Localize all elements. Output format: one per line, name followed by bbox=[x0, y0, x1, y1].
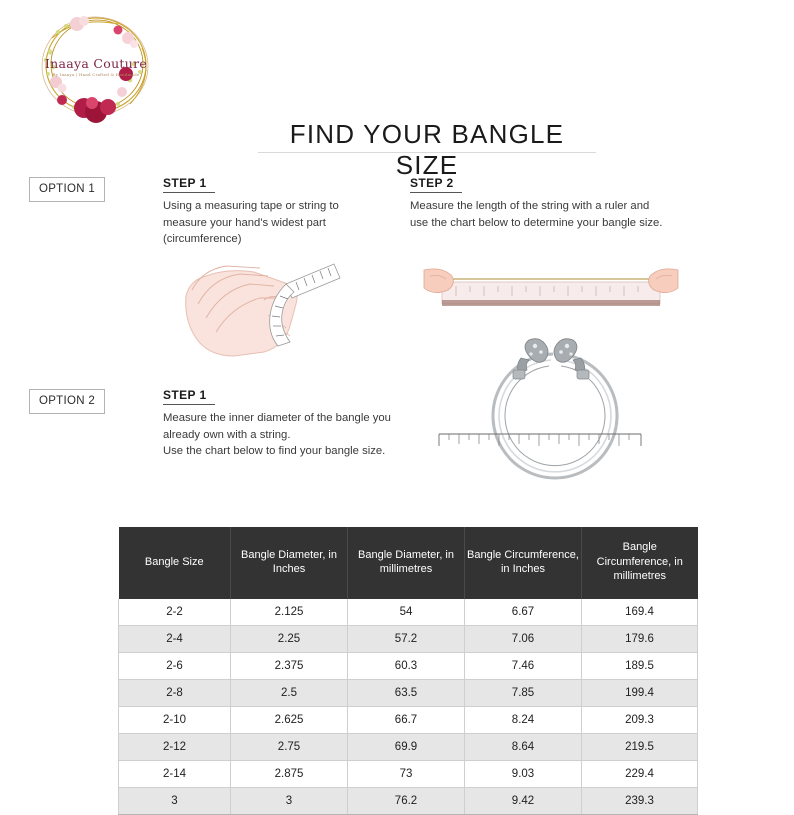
table-cell: 229.4 bbox=[582, 761, 698, 788]
table-cell: 199.4 bbox=[582, 680, 698, 707]
table-cell: 54 bbox=[348, 599, 465, 626]
table-cell: 9.03 bbox=[465, 761, 582, 788]
bangle-size-table: Bangle Size Bangle Diameter, in Inches B… bbox=[118, 527, 698, 815]
table-cell: 69.9 bbox=[348, 734, 465, 761]
table-cell: 2.625 bbox=[231, 707, 348, 734]
table-cell: 63.5 bbox=[348, 680, 465, 707]
hand-with-measuring-tape-icon bbox=[168, 250, 368, 362]
table-cell: 2-12 bbox=[119, 734, 231, 761]
table-cell: 2.5 bbox=[231, 680, 348, 707]
table-row: 2-82.563.57.85199.4 bbox=[119, 680, 698, 707]
table-cell: 209.3 bbox=[582, 707, 698, 734]
option1-step1-heading: STEP 1 bbox=[163, 176, 215, 193]
table-row: 2-62.37560.37.46189.5 bbox=[119, 653, 698, 680]
option-2-badge: OPTION 2 bbox=[29, 389, 105, 414]
table-cell: 2-4 bbox=[119, 626, 231, 653]
elephant-head-terminal-right bbox=[554, 339, 589, 379]
table-cell: 8.64 bbox=[465, 734, 582, 761]
table-row: 2-102.62566.78.24209.3 bbox=[119, 707, 698, 734]
table-header-row: Bangle Size Bangle Diameter, in Inches B… bbox=[119, 527, 698, 599]
option1-step2-heading: STEP 2 bbox=[410, 176, 462, 193]
brand-logo: Inaaya Couture By Inaaya | Hand Crafted … bbox=[22, 8, 170, 126]
table-row: 2-122.7569.98.64219.5 bbox=[119, 734, 698, 761]
title-divider bbox=[258, 152, 596, 153]
column-header-diameter-inches: Bangle Diameter, in Inches bbox=[231, 527, 348, 599]
table-cell: 7.46 bbox=[465, 653, 582, 680]
silver-bangle-with-ruler-icon bbox=[425, 336, 677, 511]
option1-step2-body: Measure the length of the string with a … bbox=[410, 198, 670, 231]
table-row: 2-142.875739.03229.4 bbox=[119, 761, 698, 788]
column-header-circumference-inches: Bangle Circumference, in Inches bbox=[465, 527, 582, 599]
table-cell: 189.5 bbox=[582, 653, 698, 680]
table-row: 2-22.125546.67169.4 bbox=[119, 599, 698, 626]
table-cell: 239.3 bbox=[582, 788, 698, 815]
table-row: 3376.29.42239.3 bbox=[119, 788, 698, 815]
table-cell: 2-8 bbox=[119, 680, 231, 707]
column-header-diameter-mm: Bangle Diameter, in millimetres bbox=[348, 527, 465, 599]
table-cell: 60.3 bbox=[348, 653, 465, 680]
table-cell: 66.7 bbox=[348, 707, 465, 734]
table-cell: 219.5 bbox=[582, 734, 698, 761]
table-cell: 6.67 bbox=[465, 599, 582, 626]
table-row: 2-42.2557.27.06179.6 bbox=[119, 626, 698, 653]
option2-step1-heading: STEP 1 bbox=[163, 388, 215, 405]
table-cell: 179.6 bbox=[582, 626, 698, 653]
option1-step1-body: Using a measuring tape or string to meas… bbox=[163, 198, 378, 248]
table-cell: 57.2 bbox=[348, 626, 465, 653]
brand-name: Inaaya Couture bbox=[22, 56, 170, 71]
hands-holding-string-on-ruler-icon bbox=[416, 252, 686, 322]
table-cell: 2-14 bbox=[119, 761, 231, 788]
option-1-badge: OPTION 1 bbox=[29, 177, 105, 202]
table-cell: 2.125 bbox=[231, 599, 348, 626]
table-cell: 3 bbox=[119, 788, 231, 815]
table-cell: 7.06 bbox=[465, 626, 582, 653]
table-cell: 9.42 bbox=[465, 788, 582, 815]
table-cell: 8.24 bbox=[465, 707, 582, 734]
table-cell: 2.75 bbox=[231, 734, 348, 761]
table-cell: 2-6 bbox=[119, 653, 231, 680]
table-body: 2-22.125546.67169.42-42.2557.27.06179.62… bbox=[119, 599, 698, 815]
table-cell: 76.2 bbox=[348, 788, 465, 815]
table-cell: 2-2 bbox=[119, 599, 231, 626]
column-header-circumference-mm: Bangle Circumference, in millimetres bbox=[582, 527, 698, 599]
column-header-bangle-size: Bangle Size bbox=[119, 527, 231, 599]
page-title: FIND YOUR BANGLE SIZE bbox=[258, 119, 596, 181]
table-cell: 3 bbox=[231, 788, 348, 815]
table-cell: 73 bbox=[348, 761, 465, 788]
brand-tagline: By Inaaya | Hand Crafted & Handmade bbox=[22, 72, 170, 77]
option2-step1-body: Measure the inner diameter of the bangle… bbox=[163, 410, 411, 460]
table-cell: 169.4 bbox=[582, 599, 698, 626]
table-cell: 7.85 bbox=[465, 680, 582, 707]
table-cell: 2.375 bbox=[231, 653, 348, 680]
table-cell: 2.25 bbox=[231, 626, 348, 653]
table-cell: 2-10 bbox=[119, 707, 231, 734]
table-cell: 2.875 bbox=[231, 761, 348, 788]
